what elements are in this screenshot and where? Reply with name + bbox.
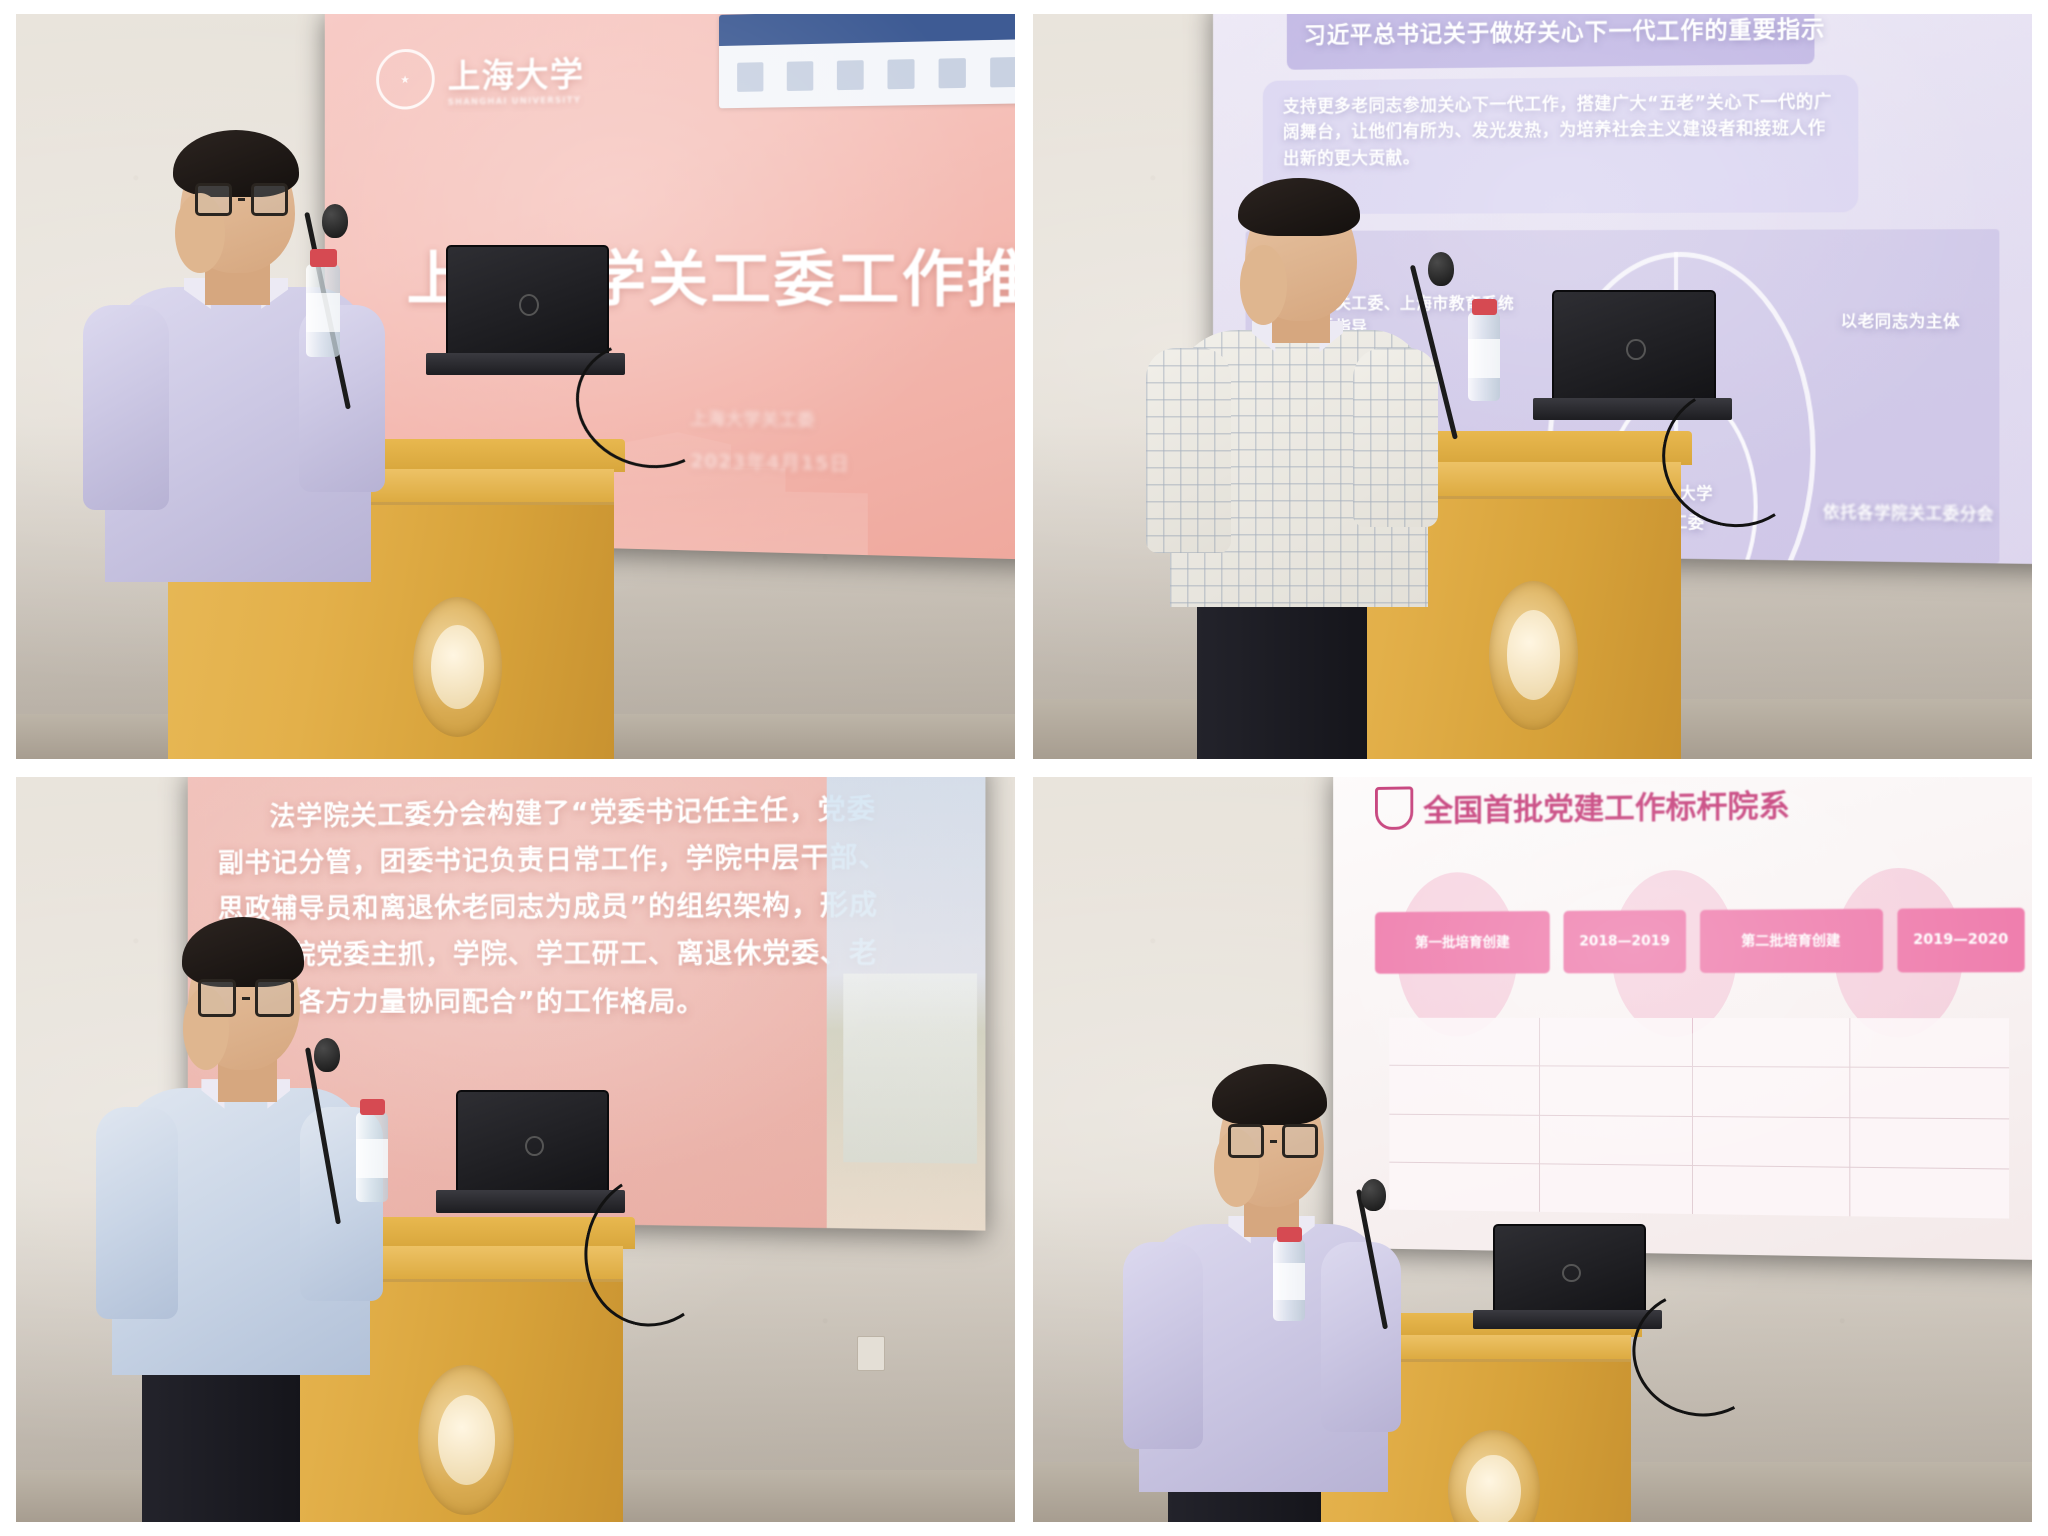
- microphone-head: [314, 1038, 340, 1072]
- slide3-line-1: 副书记分管，团委书记负责日常工作，学院中层干部、: [218, 834, 835, 887]
- lectern-seal-inner: [1466, 1455, 1521, 1522]
- table-cell: [1539, 1018, 1691, 1067]
- slide2-body: 支持更多老同志参加关心下一代工作，搭建广大“五老”关心下一代的广阔舞台，让他们有…: [1283, 89, 1836, 172]
- speaker-left-arm: [1146, 348, 1231, 554]
- photo-collage: ★ 上海大学 SHANGHAI UNIVERSITY 上海大学关工委工作推进会: [0, 0, 2048, 1536]
- glasses-lens-right: [1282, 1124, 1318, 1158]
- glasses-lens-left: [1228, 1124, 1264, 1158]
- table-cell: [1850, 1068, 2009, 1118]
- speaker-ear: [1240, 245, 1288, 325]
- slide4-title-bar: 全国首批党建工作标杆院系: [1375, 780, 1789, 831]
- slide4-box-0: 第一批培育创建: [1375, 911, 1550, 975]
- glasses-lens-left: [195, 183, 232, 216]
- bottle-label: [306, 293, 340, 332]
- browser-icon-row: [719, 40, 1015, 109]
- panel-bottom-right: 全国首批党建工作标杆院系 第一批培育创建 2018—2019 第二批培育创建 2…: [1033, 777, 2032, 1522]
- lectern-seal: [413, 597, 502, 737]
- bottle-cap: [360, 1099, 385, 1115]
- glasses-lens-right: [251, 183, 288, 216]
- slide1-logo-subtext: SHANGHAI UNIVERSITY: [447, 95, 584, 107]
- bottle-cap: [1277, 1227, 1302, 1242]
- wall-outlet: [857, 1336, 885, 1372]
- laptop-logo-icon: [519, 294, 539, 316]
- bottle-cap: [310, 249, 337, 267]
- speaker-right-arm: [1353, 348, 1438, 527]
- slide3-line-0: 法学院关工委分会构建了“党委书记任主任，党委: [218, 786, 835, 841]
- speaker-left-arm: [96, 1107, 178, 1319]
- table-cell: [1539, 1115, 1691, 1165]
- lectern-seal: [418, 1365, 514, 1514]
- panel-top-right: 习近平总书记关于做好关心下一代工作的重要指示 支持更多老同志参加关心下一代工作，…: [1033, 14, 2032, 759]
- diagram-label-top-right: 以老同志为主体: [1841, 309, 2032, 334]
- glasses-bridge: [242, 997, 250, 1000]
- slide4-title: 全国首批党建工作标杆院系: [1423, 780, 1790, 830]
- lectern-seal: [1448, 1430, 1540, 1522]
- speaker-glasses-icon: [195, 186, 289, 213]
- diagram-label-bottom-right: 依托各学院关工委分会: [1823, 498, 2032, 525]
- water-bottle: [306, 264, 340, 357]
- slide1-logo-text: 上海大学: [447, 47, 584, 98]
- party-emblem-icon: [1375, 787, 1413, 831]
- table-cell: [1693, 1018, 1849, 1067]
- glasses-bridge: [238, 198, 245, 201]
- laptop-logo-icon: [1562, 1264, 1581, 1282]
- browser-bar-mock: [719, 14, 1015, 109]
- table-cell: [1693, 1067, 1849, 1117]
- table-cell: [1693, 1117, 1849, 1167]
- laptop-logo-icon: [1626, 339, 1646, 361]
- glasses-lens-left: [198, 979, 236, 1017]
- table-cell: [1850, 1168, 2009, 1219]
- laptop-lid: [456, 1090, 610, 1198]
- lectern-seal-inner: [438, 1395, 495, 1484]
- table-cell: [1850, 1018, 2009, 1068]
- slide4-box-3: 2019—2020: [1897, 907, 2025, 973]
- table-cell: [1539, 1067, 1691, 1116]
- speaker-left-arm: [83, 305, 169, 511]
- table-cell: [1850, 1118, 2009, 1169]
- speaker-glasses-icon: [198, 982, 294, 1014]
- panel-bottom-left: 法学院关工委分会构建了“党委书记任主任，党委 副书记分管，团委书记负责日常工作，…: [16, 777, 1015, 1522]
- slide4-box-1: 2018—2019: [1564, 910, 1686, 974]
- microphone-head: [1428, 252, 1454, 286]
- water-bottle: [356, 1112, 388, 1201]
- table-cell: [1693, 1166, 1849, 1217]
- speaker-right-arm: [1321, 1242, 1401, 1432]
- lectern-seal-inner: [431, 625, 485, 709]
- water-bottle: [1273, 1239, 1305, 1321]
- campus-building-silhouette: [843, 974, 977, 1164]
- speaker-figure: [1143, 178, 1483, 625]
- laptop-logo-icon: [525, 1136, 544, 1157]
- laptop-lid: [1552, 290, 1716, 406]
- bottle-cap: [1472, 299, 1497, 315]
- speaker-left-arm: [1123, 1242, 1203, 1449]
- speaker-hair: [1238, 178, 1360, 236]
- water-bottle: [1468, 312, 1500, 401]
- glasses-bridge: [1270, 1140, 1277, 1143]
- speaker-hair: [182, 917, 304, 986]
- laptop-base: [1473, 1310, 1663, 1329]
- panel-top-left: ★ 上海大学 SHANGHAI UNIVERSITY 上海大学关工委工作推进会: [16, 14, 1015, 759]
- bottle-label: [356, 1139, 388, 1178]
- slide4-box-2: 第二批培育创建: [1699, 908, 1882, 973]
- glasses-lens-right: [255, 979, 293, 1017]
- slide4-table: [1389, 1018, 2009, 1219]
- slide4-box-row: 第一批培育创建 2018—2019 第二批培育创建 2019—2020: [1375, 907, 2024, 974]
- lectern-seal-inner: [1507, 610, 1561, 700]
- bottle-label: [1273, 1263, 1305, 1299]
- bottle-label: [1468, 339, 1500, 378]
- microphone-head: [322, 204, 348, 238]
- lectern-seal: [1489, 581, 1578, 731]
- table-cell: [1389, 1018, 1538, 1066]
- speaker-glasses-icon: [1228, 1127, 1318, 1155]
- speaker-hair: [1212, 1064, 1327, 1124]
- laptop-lid: [446, 245, 610, 361]
- speaker-figure: [76, 126, 436, 573]
- microphone-head: [1361, 1179, 1386, 1211]
- slide2-header: 习近平总书记关于做好关心下一代工作的重要指示: [1304, 14, 1826, 49]
- table-cell: [1539, 1164, 1691, 1214]
- shu-emblem-icon: ★: [376, 49, 435, 111]
- laptop-lid: [1493, 1224, 1647, 1317]
